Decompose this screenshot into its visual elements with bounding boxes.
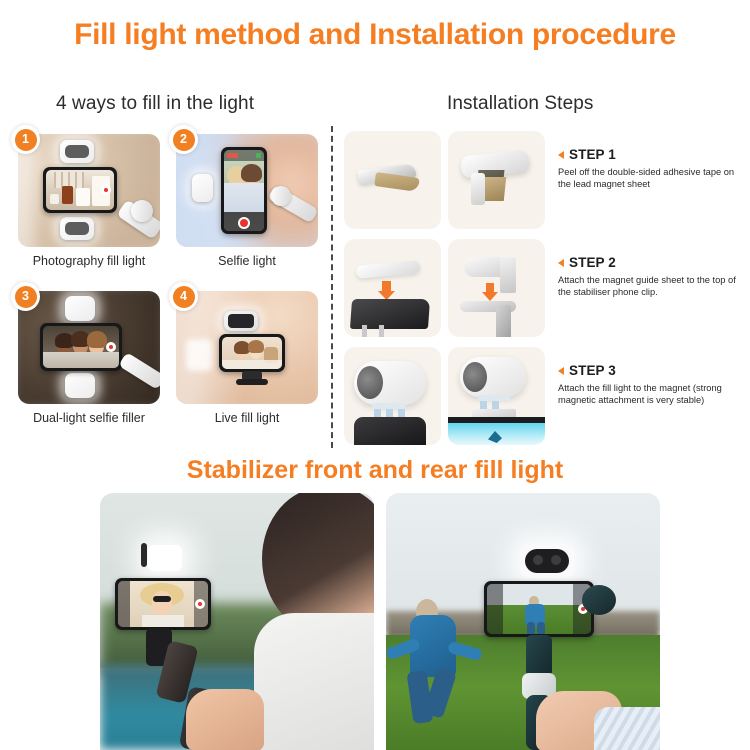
installation-steps-list: STEP 1 Peel off the double-sided adhesiv… bbox=[344, 131, 744, 455]
infographic-page: Fill light method and Installation proce… bbox=[0, 0, 750, 750]
step-3-title-row: STEP 3 bbox=[558, 363, 748, 378]
record-indicator-icon bbox=[195, 599, 205, 609]
way-photo-live bbox=[176, 291, 318, 404]
fill-light-ways-grid: 1 Photography fill light bbox=[18, 134, 318, 444]
right-section-heading: Installation Steps bbox=[447, 93, 594, 115]
way-card-1[interactable]: 1 Photography fill light bbox=[18, 134, 160, 279]
photo-rear-fill-light bbox=[386, 493, 660, 750]
step-3-title: STEP 3 bbox=[569, 363, 616, 378]
way-badge-4: 4 bbox=[169, 282, 198, 311]
record-indicator-icon bbox=[106, 342, 116, 352]
page-title: Fill light method and Installation proce… bbox=[0, 18, 750, 52]
step-3-description: Attach the fill light to the magnet (str… bbox=[558, 382, 748, 407]
step-2-thumbnail-a bbox=[344, 239, 441, 337]
step-2-description: Attach the magnet guide sheet to the top… bbox=[558, 274, 748, 299]
step-2-text: STEP 2 Attach the magnet guide sheet to … bbox=[558, 255, 748, 299]
way-badge-2: 2 bbox=[169, 125, 198, 154]
way-card-4[interactable]: 4 Live fill light bbox=[176, 291, 318, 436]
way-badge-3: 3 bbox=[11, 282, 40, 311]
triangle-marker-icon bbox=[558, 259, 564, 267]
left-section-heading: 4 ways to fill in the light bbox=[56, 93, 254, 115]
way-badge-number: 3 bbox=[15, 286, 37, 308]
step-1-thumbnail-b bbox=[448, 131, 545, 229]
step-1-description: Peel off the double-sided adhesive tape … bbox=[558, 166, 748, 191]
way-caption-2: Selfie light bbox=[176, 254, 318, 268]
bottom-photo-row bbox=[100, 493, 660, 750]
step-3-text: STEP 3 Attach the fill light to the magn… bbox=[558, 363, 748, 407]
step-row-3: STEP 3 Attach the fill light to the magn… bbox=[344, 347, 744, 451]
triangle-marker-icon bbox=[558, 367, 564, 375]
way-photo-selfie bbox=[176, 134, 318, 247]
vertical-dashed-divider bbox=[331, 126, 333, 448]
way-caption-4: Live fill light bbox=[176, 411, 318, 425]
step-1-thumbnail-a bbox=[344, 131, 441, 229]
step-1-title-row: STEP 1 bbox=[558, 147, 748, 162]
step-1-text: STEP 1 Peel off the double-sided adhesiv… bbox=[558, 147, 748, 191]
step-2-title-row: STEP 2 bbox=[558, 255, 748, 270]
bottom-section-heading: Stabilizer front and rear fill light bbox=[0, 456, 750, 485]
way-caption-3: Dual-light selfie filler bbox=[18, 411, 160, 425]
way-card-3[interactable]: 3 Dual-light selfie filler bbox=[18, 291, 160, 436]
step-3-thumbnail-b bbox=[448, 347, 545, 445]
way-photo-dual-light bbox=[18, 291, 160, 404]
step-1-title: STEP 1 bbox=[569, 147, 616, 162]
step-3-thumbnail-a bbox=[344, 347, 441, 445]
way-badge-number: 4 bbox=[173, 286, 195, 308]
photo-front-fill-light bbox=[100, 493, 374, 750]
way-badge-number: 2 bbox=[173, 129, 195, 151]
step-row-2: STEP 2 Attach the magnet guide sheet to … bbox=[344, 239, 744, 343]
step-row-1: STEP 1 Peel off the double-sided adhesiv… bbox=[344, 131, 744, 235]
way-card-2[interactable]: 2 Selfie light bbox=[176, 134, 318, 279]
step-2-thumbnail-b bbox=[448, 239, 545, 337]
step-2-title: STEP 2 bbox=[569, 255, 616, 270]
triangle-marker-icon bbox=[558, 151, 564, 159]
way-caption-1: Photography fill light bbox=[18, 254, 160, 268]
way-badge-number: 1 bbox=[15, 129, 37, 151]
way-badge-1: 1 bbox=[11, 125, 40, 154]
record-indicator-icon bbox=[101, 185, 111, 195]
way-photo-photography bbox=[18, 134, 160, 247]
